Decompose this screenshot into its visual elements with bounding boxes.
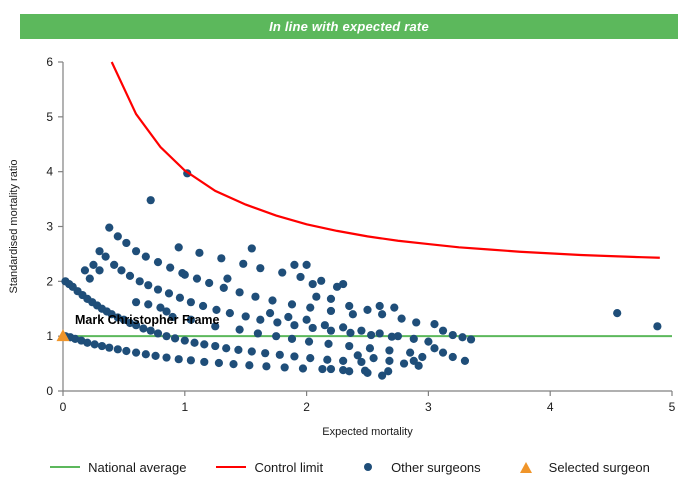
y-tick-label: 5 xyxy=(46,110,53,124)
scatter-point xyxy=(86,274,94,282)
scatter-point xyxy=(105,224,113,232)
scatter-point xyxy=(406,349,414,357)
y-tick-label: 2 xyxy=(46,274,53,288)
scatter-point xyxy=(229,360,237,368)
scatter-point xyxy=(410,335,418,343)
scatter-point xyxy=(165,289,173,297)
scatter-point xyxy=(324,340,332,348)
scatter-point xyxy=(439,327,447,335)
scatter-point xyxy=(117,266,125,274)
y-tick-label: 6 xyxy=(46,55,53,69)
scatter-point xyxy=(223,274,231,282)
scatter-point xyxy=(345,367,353,375)
scatter-point xyxy=(653,322,661,330)
scatter-point xyxy=(98,342,106,350)
scatter-point xyxy=(290,321,298,329)
scatter-point xyxy=(171,334,179,342)
scatter-point xyxy=(114,345,122,353)
scatter-point xyxy=(114,232,122,240)
scatter-point xyxy=(95,247,103,255)
scatter-point xyxy=(220,284,228,292)
scatter-point xyxy=(461,357,469,365)
scatter-point xyxy=(81,266,89,274)
scatter-point xyxy=(102,253,110,261)
legend-item-selected-surgeon[interactable]: Selected surgeon xyxy=(511,460,650,475)
scatter-point xyxy=(467,335,475,343)
scatter-point xyxy=(122,347,130,355)
scatter-point xyxy=(251,293,259,301)
scatter-point xyxy=(200,358,208,366)
scatter-point xyxy=(193,274,201,282)
x-tick-label: 2 xyxy=(303,400,310,414)
scatter-point xyxy=(430,320,438,328)
scatter-point xyxy=(398,315,406,323)
scatter-point xyxy=(303,316,311,324)
scatter-point xyxy=(151,352,159,360)
scatter-point xyxy=(144,300,152,308)
scatter-point xyxy=(290,261,298,269)
scatter-point xyxy=(363,369,371,377)
scatter-point xyxy=(245,361,253,369)
scatter-point xyxy=(390,304,398,312)
scatter-point xyxy=(306,304,314,312)
y-tick-label: 1 xyxy=(46,329,53,343)
scatter-point xyxy=(305,338,313,346)
scatter-point xyxy=(369,354,377,362)
chart-legend: National average Control limit Other sur… xyxy=(0,452,700,482)
scatter-point xyxy=(321,321,329,329)
scatter-point xyxy=(217,254,225,262)
y-tick-label: 3 xyxy=(46,220,53,234)
y-tick-label: 4 xyxy=(46,165,53,179)
scatter-point xyxy=(166,264,174,272)
scatter-point xyxy=(91,340,99,348)
scatter-point xyxy=(288,335,296,343)
triangle-swatch-icon xyxy=(520,462,532,473)
scatter-point xyxy=(181,336,189,344)
legend-label: Control limit xyxy=(254,460,323,475)
scatter-point xyxy=(418,353,426,361)
scatter-point xyxy=(83,339,91,347)
legend-label: Other surgeons xyxy=(391,460,481,475)
scatter-point xyxy=(400,359,408,367)
scatter-point xyxy=(430,344,438,352)
scatter-point xyxy=(147,327,155,335)
scatter-point xyxy=(449,353,457,361)
scatter-point xyxy=(215,359,223,367)
scatter-point xyxy=(239,260,247,268)
legend-item-control-limit[interactable]: Control limit xyxy=(216,460,323,475)
scatter-point xyxy=(211,342,219,350)
scatter-point xyxy=(303,261,311,269)
legend-item-national-average[interactable]: National average xyxy=(50,460,186,475)
scatter-point xyxy=(162,332,170,340)
scatter-point xyxy=(142,253,150,261)
legend-item-other-surgeons[interactable]: Other surgeons xyxy=(353,460,481,475)
scatter-point xyxy=(195,249,203,257)
scatter-point xyxy=(122,239,130,247)
line-swatch-icon xyxy=(50,466,80,468)
scatter-point xyxy=(366,344,374,352)
scatter-point xyxy=(363,306,371,314)
scatter-point xyxy=(309,324,317,332)
scatter-point xyxy=(234,346,242,354)
scatter-point xyxy=(236,288,244,296)
chart-area: 0123456012345Expected mortalityStandardi… xyxy=(0,40,700,450)
scatter-point xyxy=(318,365,326,373)
scatter-point xyxy=(278,268,286,276)
scatter-point xyxy=(132,349,140,357)
scatter-point xyxy=(132,247,140,255)
scatter-point xyxy=(345,342,353,350)
scatter-point xyxy=(142,350,150,358)
scatter-point xyxy=(458,333,466,341)
scatter-point xyxy=(306,354,314,362)
scatter-series-other-surgeons xyxy=(61,169,661,380)
scatter-point xyxy=(309,280,317,288)
scatter-point xyxy=(154,258,162,266)
line-swatch-icon xyxy=(216,466,246,468)
scatter-point xyxy=(327,295,335,303)
status-banner: In line with expected rate xyxy=(20,14,678,39)
scatter-point xyxy=(276,351,284,359)
selected-surgeon-label: Mark Christopher Frame xyxy=(75,313,220,327)
scatter-point xyxy=(345,302,353,310)
scatter-point xyxy=(327,365,335,373)
scatter-point xyxy=(357,327,365,335)
scatter-point xyxy=(288,300,296,308)
scatter-point xyxy=(354,351,362,359)
scatter-point xyxy=(262,362,270,370)
scatter-point xyxy=(147,196,155,204)
scatter-point xyxy=(385,357,393,365)
scatter-point xyxy=(410,357,418,365)
scatter-point xyxy=(284,313,292,321)
scatter-point xyxy=(236,325,244,333)
scatter-point xyxy=(327,307,335,315)
legend-label: Selected surgeon xyxy=(549,460,650,475)
scatter-point xyxy=(323,356,331,364)
x-axis-title: Expected mortality xyxy=(322,426,413,438)
scatter-point xyxy=(110,261,118,269)
scatter-point xyxy=(327,327,335,335)
scatter-point xyxy=(162,353,170,361)
scatter-point xyxy=(268,296,276,304)
scatter-point xyxy=(154,329,162,337)
scatter-point xyxy=(256,316,264,324)
scatter-point xyxy=(136,277,144,285)
y-axis-title: Standardised mortality ratio xyxy=(8,160,20,294)
scatter-point xyxy=(272,332,280,340)
x-tick-label: 4 xyxy=(547,400,554,414)
scatter-point xyxy=(299,364,307,372)
scatter-point xyxy=(199,302,207,310)
scatter-point xyxy=(154,285,162,293)
scatter-point xyxy=(412,318,420,326)
scatter-point xyxy=(394,332,402,340)
scatter-point xyxy=(367,331,375,339)
scatter-point xyxy=(226,309,234,317)
scatter-point xyxy=(273,318,281,326)
scatter-point xyxy=(187,356,195,364)
scatter-point xyxy=(346,329,354,337)
scatter-point xyxy=(254,329,262,337)
scatter-point xyxy=(339,323,347,331)
scatter-point xyxy=(144,281,152,289)
scatter-point xyxy=(613,309,621,317)
scatter-point xyxy=(242,312,250,320)
scatter-point xyxy=(256,264,264,272)
scatter-point xyxy=(266,309,274,317)
scatter-point xyxy=(175,243,183,251)
scatter-point xyxy=(339,357,347,365)
scatter-point xyxy=(439,349,447,357)
scatter-point xyxy=(95,266,103,274)
dot-swatch-icon xyxy=(364,463,372,471)
status-banner-label: In line with expected rate xyxy=(269,19,429,34)
scatter-point xyxy=(132,298,140,306)
x-tick-label: 5 xyxy=(669,400,676,414)
scatter-point xyxy=(105,344,113,352)
scatter-point xyxy=(190,339,198,347)
scatter-point xyxy=(385,346,393,354)
control-limit-line xyxy=(112,62,660,258)
scatter-point xyxy=(187,298,195,306)
scatter-point xyxy=(205,279,213,287)
scatter-point xyxy=(222,344,230,352)
scatter-point xyxy=(376,329,384,337)
scatter-point xyxy=(378,372,386,380)
scatter-point xyxy=(175,355,183,363)
y-tick-label: 0 xyxy=(46,384,53,398)
scatter-point xyxy=(296,273,304,281)
scatter-point xyxy=(333,283,341,291)
scatter-point xyxy=(176,294,184,302)
x-tick-label: 3 xyxy=(425,400,432,414)
scatter-point xyxy=(349,310,357,318)
scatter-point xyxy=(378,310,386,318)
scatter-point xyxy=(449,331,457,339)
scatter-point xyxy=(376,302,384,310)
scatter-point xyxy=(424,338,432,346)
scatter-point xyxy=(312,293,320,301)
scatter-point xyxy=(261,349,269,357)
scatter-point xyxy=(181,271,189,279)
funnel-plot-page: In line with expected rate 0123456012345… xyxy=(0,0,700,500)
scatter-point xyxy=(248,244,256,252)
legend-label: National average xyxy=(88,460,186,475)
scatter-point xyxy=(89,261,97,269)
scatter-point xyxy=(317,277,325,285)
scatter-point xyxy=(126,272,134,280)
scatter-point xyxy=(281,363,289,371)
funnel-plot-svg: 0123456012345Expected mortalityStandardi… xyxy=(0,40,700,450)
scatter-point xyxy=(290,352,298,360)
scatter-point xyxy=(248,347,256,355)
x-tick-label: 0 xyxy=(60,400,67,414)
scatter-point xyxy=(200,340,208,348)
x-tick-label: 1 xyxy=(181,400,188,414)
